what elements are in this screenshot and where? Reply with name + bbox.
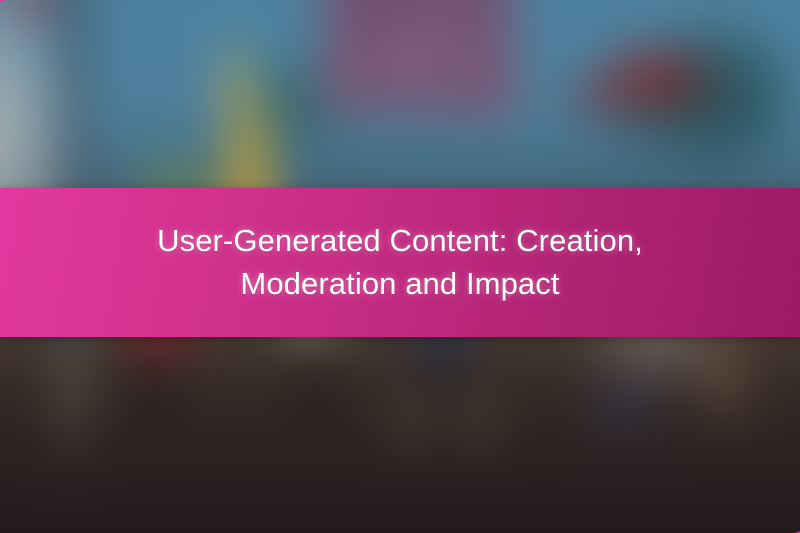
hero-card: User-Generated Content: Creation,Moderat… bbox=[0, 0, 800, 533]
page-title-line-1: User-Generated Content: Creation, bbox=[157, 223, 643, 258]
page-title: User-Generated Content: Creation,Moderat… bbox=[100, 220, 700, 304]
title-banner: User-Generated Content: Creation,Moderat… bbox=[0, 188, 800, 337]
page-title-line-2: Moderation and Impact bbox=[240, 266, 559, 301]
